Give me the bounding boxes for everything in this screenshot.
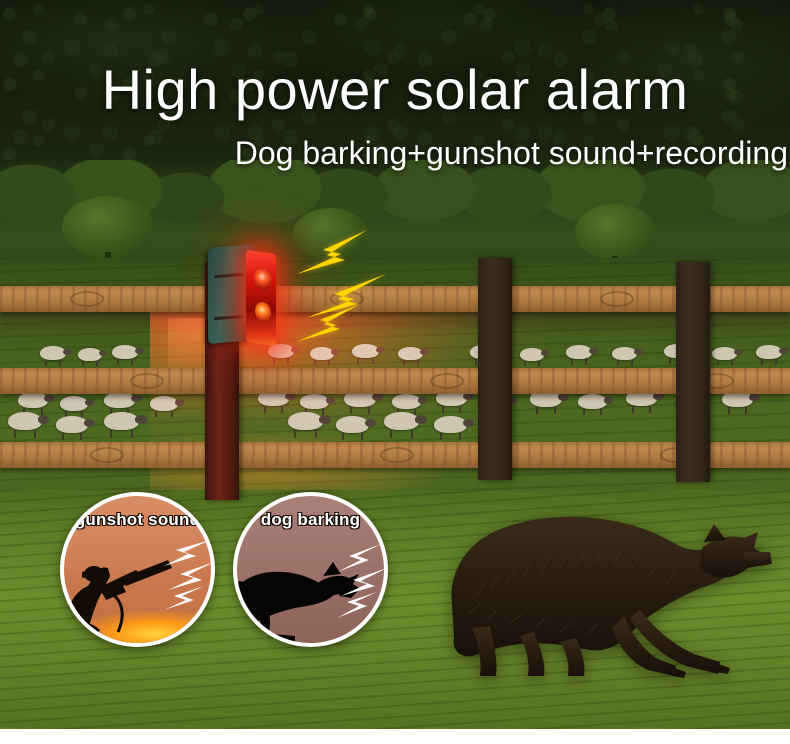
promo-poster: High power solar alarm Dog barking+gunsh… <box>0 0 790 729</box>
page-title: High power solar alarm <box>0 62 790 118</box>
tree-line <box>0 160 790 272</box>
sheep <box>268 344 294 358</box>
fence-rail-bottom <box>0 442 790 468</box>
fence-post <box>676 262 710 482</box>
sheep <box>104 412 139 430</box>
sheep <box>60 396 88 411</box>
sheep <box>112 345 138 359</box>
sheep <box>398 347 423 360</box>
sheep <box>712 347 737 360</box>
sheep <box>300 394 329 409</box>
sheep <box>756 345 782 359</box>
fence-post <box>478 258 512 480</box>
sheep <box>578 394 607 409</box>
sheep <box>18 392 48 408</box>
solar-alarm-device[interactable] <box>208 246 274 342</box>
sheep <box>384 412 419 430</box>
sheep <box>310 347 334 360</box>
feature-badge-dog[interactable]: dog barking <box>233 492 388 647</box>
fence-rail-top <box>0 286 790 312</box>
sheep <box>78 348 102 361</box>
sound-bolt-3 <box>292 300 364 346</box>
sheep <box>56 416 88 433</box>
bottom-white-strip <box>0 729 790 744</box>
badge-label-gunshot: gunshot sound <box>64 510 211 530</box>
fence-rail-middle <box>0 368 790 394</box>
sheep <box>612 347 637 360</box>
sheep <box>150 396 178 411</box>
feature-badge-gunshot[interactable]: gunshot sound <box>60 492 215 647</box>
badge-label-dog: dog barking <box>237 510 384 530</box>
sheep <box>104 392 135 408</box>
sheep <box>40 346 66 360</box>
brown-bear <box>428 486 776 686</box>
red-glowing-panel <box>246 250 276 346</box>
page-subtitle: Dog barking+gunshot sound+recording <box>235 137 788 169</box>
sheep <box>288 412 323 430</box>
sheep <box>8 412 42 430</box>
sheep <box>434 416 467 433</box>
sheep <box>392 394 421 409</box>
sheep <box>520 348 544 361</box>
sheep <box>336 416 369 433</box>
sheep <box>352 344 379 358</box>
sheep <box>566 345 592 359</box>
